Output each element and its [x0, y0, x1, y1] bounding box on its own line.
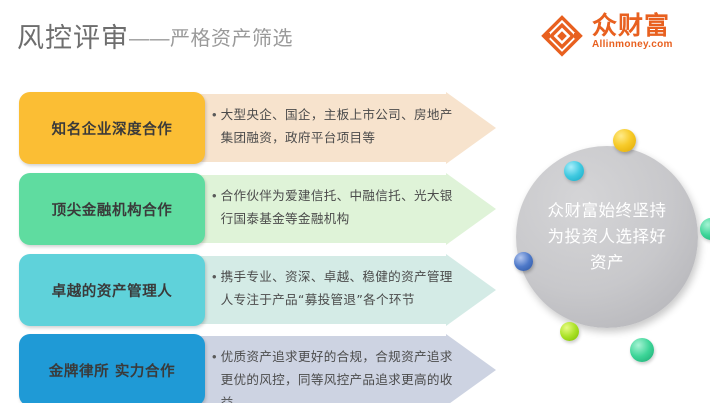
logo-domain: Allinmoney.com [592, 39, 700, 51]
feature-label-box[interactable]: 顶尖金融机构合作 [19, 173, 205, 245]
slogan-circle: 众财富始终坚持为投资人选择好资产 [516, 146, 698, 328]
feature-description-text: 合作伙伴为爱建信托、中融信托、光大银行国泰基金等金融机构 [221, 184, 460, 230]
decor-dot-yellow-green [560, 322, 579, 341]
feature-label-text: 卓越的资产管理人 [52, 280, 173, 301]
feature-label-text: 金牌律所 实力合作 [49, 360, 175, 381]
decor-dot-green [630, 338, 654, 362]
brand-logo: 众财富 Allinmoney.com [538, 10, 700, 64]
feature-label-text: 顶尖金融机构合作 [52, 199, 173, 220]
feature-description: • 大型央企、国企，主板上市公司、房地产集团融资，政府平台项目等 [212, 103, 460, 149]
feature-row: 金牌律所 实力合作 • 优质资产追求更好的合规，合规资产追求更优的风控，同等风控… [0, 334, 710, 403]
bullet-icon: • [212, 184, 217, 207]
feature-label-box[interactable]: 知名企业深度合作 [19, 92, 205, 164]
feature-label-box[interactable]: 卓越的资产管理人 [19, 254, 205, 326]
page-title: 风控评审——严格资产筛选 [17, 16, 293, 55]
bullet-icon: • [212, 345, 217, 368]
bullet-icon: • [212, 265, 217, 288]
feature-label-box[interactable]: 金牌律所 实力合作 [19, 334, 205, 403]
feature-description-text: 大型央企、国企，主板上市公司、房地产集团融资，政府平台项目等 [221, 103, 460, 149]
title-main-text: 风控评审 [17, 23, 129, 53]
feature-description-text: 优质资产追求更好的合规，合规资产追求更优的风控，同等风控产品追求更高的收益 [221, 345, 460, 403]
title-sub-text: ——严格资产筛选 [129, 28, 293, 50]
decor-dot-yellow [613, 129, 636, 152]
feature-description-text: 携手专业、资深、卓越、稳健的资产管理人专注于产品“募投管退”各个环节 [221, 265, 460, 311]
decor-dot-blue [514, 252, 533, 271]
feature-description: • 合作伙伴为爱建信托、中融信托、光大银行国泰基金等金融机构 [212, 184, 460, 230]
feature-description: • 优质资产追求更好的合规，合规资产追求更优的风控，同等风控产品追求更高的收益 [212, 345, 460, 403]
slogan-text: 众财富始终坚持为投资人选择好资产 [545, 198, 669, 276]
logo-wordmark: 众财富 Allinmoney.com [592, 12, 700, 51]
bullet-icon: • [212, 103, 217, 126]
slide-canvas: 风控评审——严格资产筛选 众财富 Allinmoney.com [0, 0, 710, 403]
zhongcaifu-diamond-logo-mark-icon [538, 12, 586, 60]
feature-label-text: 知名企业深度合作 [52, 118, 173, 139]
logo-chinese-name: 众财富 [592, 12, 700, 39]
feature-description: • 携手专业、资深、卓越、稳健的资产管理人专注于产品“募投管退”各个环节 [212, 265, 460, 311]
decor-dot-cyan [564, 161, 584, 181]
